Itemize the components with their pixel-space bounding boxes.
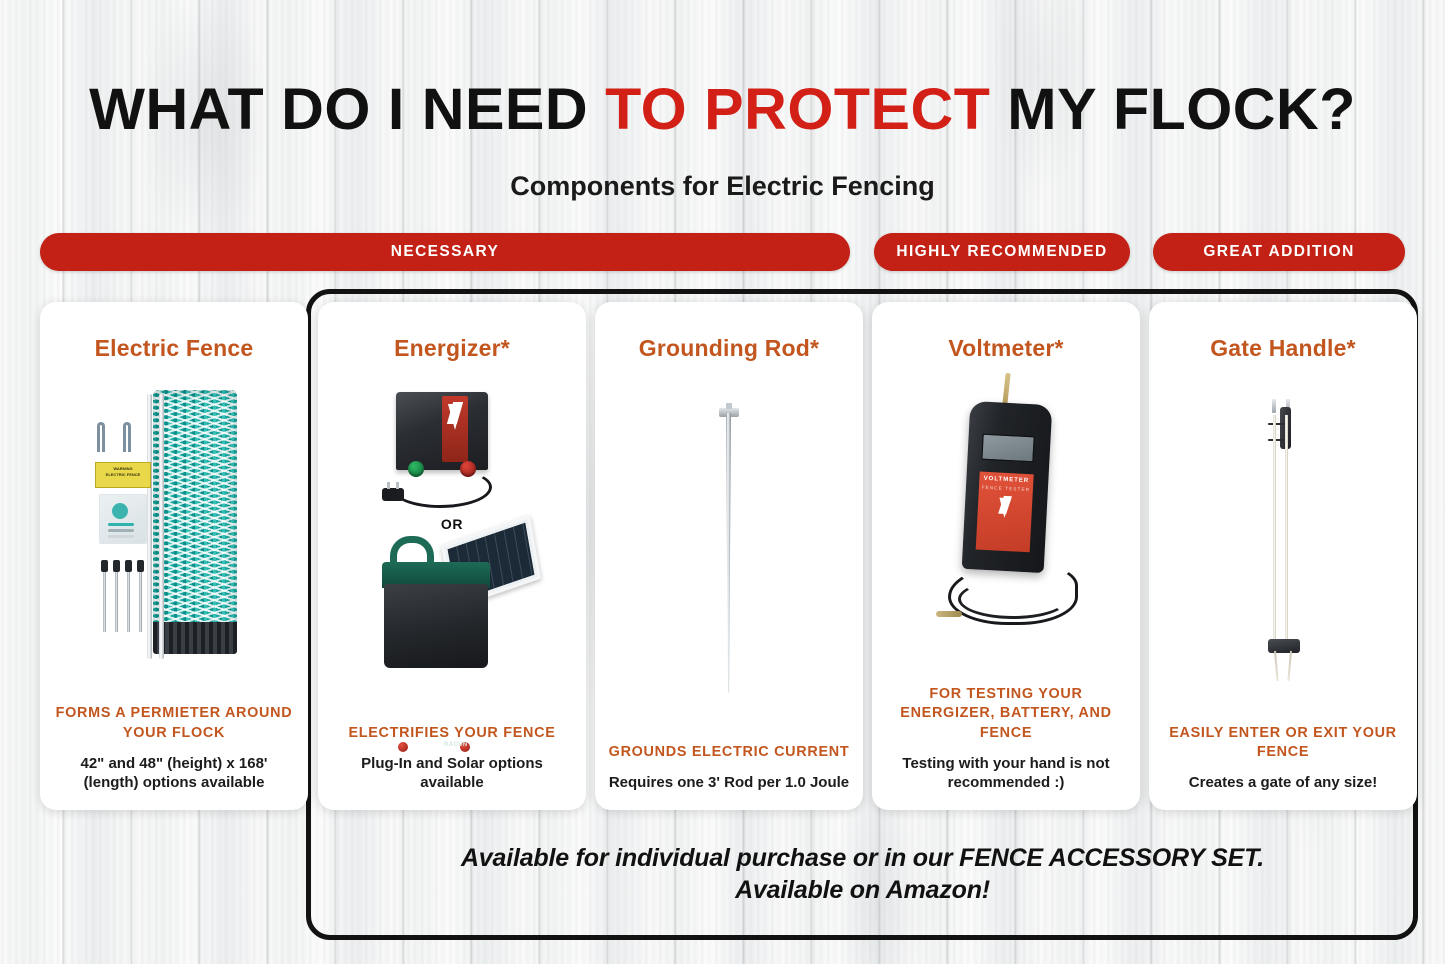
card-grounding-rod-title: Grounding Rod* xyxy=(639,335,819,362)
card-electric-fence-title: Electric Fence xyxy=(95,335,254,362)
card-voltmeter-title: Voltmeter* xyxy=(948,335,1063,362)
card-voltmeter-art: VOLTMETER FENCE TESTER xyxy=(884,362,1128,685)
card-grounding-rod: Grounding Rod* GROUNDS ELECTRIC CURRENT … xyxy=(595,302,863,810)
card-gate-handle-art xyxy=(1161,362,1405,724)
page-subtitle: Components for Electric Fencing xyxy=(0,171,1445,202)
energizer-icon: OR RACUN xyxy=(352,388,552,698)
card-grounding-rod-detail: Requires one 3' Rod per 1.0 Joule xyxy=(609,773,849,792)
footer-line-2: Available on Amazon! xyxy=(320,875,1405,907)
card-electric-fence-caption: FORMS A PERMIETER AROUND YOUR FLOCK xyxy=(52,704,296,743)
gate-handle-icon xyxy=(1248,393,1318,693)
footer-line-1: Available for individual purchase or in … xyxy=(320,843,1405,875)
card-grounding-rod-art xyxy=(607,362,851,743)
category-banner-great-addition: GREAT ADDITION xyxy=(1153,233,1405,271)
headline-accent: TO PROTECT xyxy=(605,77,990,142)
voltmeter-icon: VOLTMETER FENCE TESTER xyxy=(896,373,1116,673)
card-gate-handle: Gate Handle* EASILY ENTER OR EXIT YOUR F… xyxy=(1149,302,1417,810)
category-banner-necessary: NECESSARY xyxy=(40,233,850,271)
card-energizer-art: OR RACUN xyxy=(330,362,574,724)
voltmeter-device-sublabel: FENCE TESTER xyxy=(979,485,1033,493)
card-voltmeter-caption: FOR TESTING YOUR ENERGIZER, BATTERY, AND… xyxy=(884,685,1128,744)
solar-brand-label: RACUN xyxy=(444,742,468,748)
card-energizer-title: Energizer* xyxy=(394,335,510,362)
card-grounding-rod-caption: GROUNDS ELECTRIC CURRENT xyxy=(609,743,850,763)
category-banner-highly-recommended-label: HIGHLY RECOMMENDED xyxy=(896,243,1107,261)
card-energizer-caption: ELECTRIFIES YOUR FENCE xyxy=(348,724,555,744)
card-voltmeter: Voltmeter* VOLTMETER FENCE TESTER FOR TE… xyxy=(872,302,1140,810)
card-electric-fence-detail: 42" and 48" (height) x 168' (length) opt… xyxy=(52,754,296,792)
card-energizer: Energizer* OR RACUN ELECTRIFIES YOUR FEN… xyxy=(318,302,586,810)
category-banner-great-addition-label: GREAT ADDITION xyxy=(1203,243,1354,261)
voltmeter-device-label: VOLTMETER xyxy=(979,476,1033,485)
card-gate-handle-title: Gate Handle* xyxy=(1210,335,1356,362)
card-electric-fence-art: WARNINGELECTRIC FENCE xyxy=(52,362,296,704)
headline-part-2: MY FLOCK? xyxy=(990,77,1356,142)
page-title: WHAT DO I NEED TO PROTECT MY FLOCK? xyxy=(0,76,1445,143)
card-voltmeter-detail: Testing with your hand is not recommende… xyxy=(884,754,1128,792)
electric-fence-netting-icon: WARNINGELECTRIC FENCE xyxy=(79,388,269,678)
card-electric-fence: Electric Fence WARNINGELECTRIC FENCE FOR… xyxy=(40,302,308,810)
headline-part-1: WHAT DO I NEED xyxy=(89,77,605,142)
card-energizer-detail: Plug-In and Solar options available xyxy=(330,754,574,792)
grounding-rod-icon xyxy=(699,403,759,703)
category-banner-necessary-label: NECESSARY xyxy=(391,243,500,261)
card-gate-handle-caption: EASILY ENTER OR EXIT YOUR FENCE xyxy=(1161,724,1405,763)
category-banner-highly-recommended: HIGHLY RECOMMENDED xyxy=(874,233,1130,271)
card-gate-handle-detail: Creates a gate of any size! xyxy=(1189,773,1377,792)
footer: Available for individual purchase or in … xyxy=(320,843,1405,906)
